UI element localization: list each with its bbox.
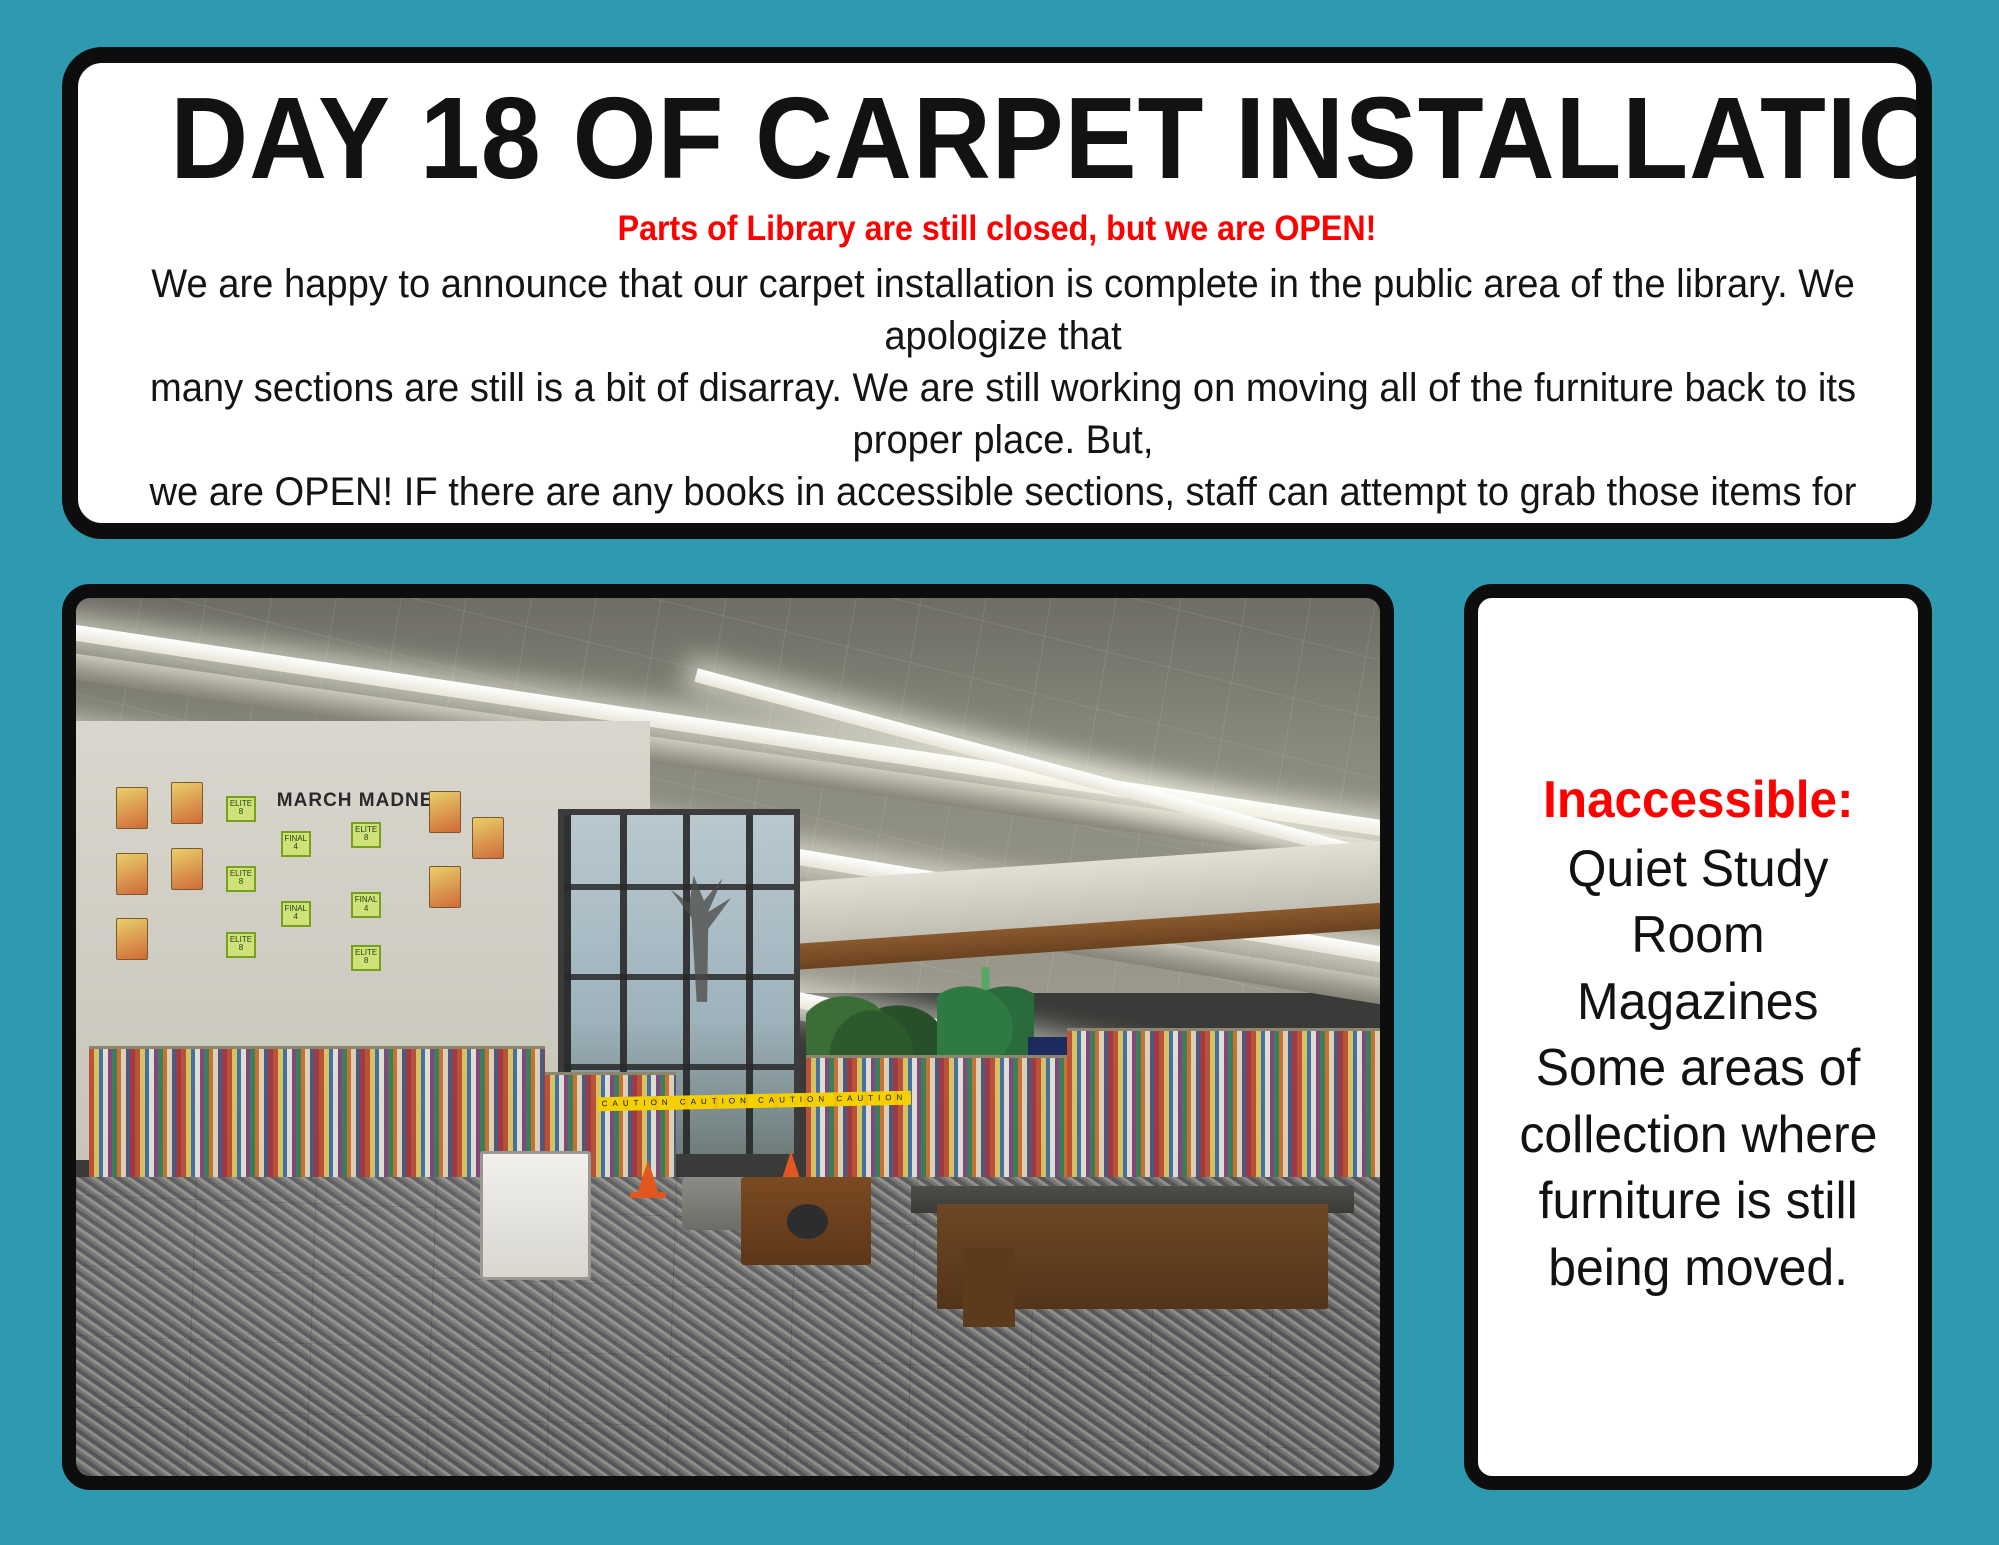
book-poster: [171, 782, 203, 824]
page-title: DAY 18 OF CARPET INSTALLATION: [170, 79, 1824, 197]
announcement-card: DAY 18 OF CARPET INSTALLATION Parts of L…: [62, 47, 1932, 539]
book-poster: [429, 791, 461, 833]
turtle-bench: [741, 1177, 871, 1265]
announcement-body-line: We are happy to announce that our carpet…: [139, 258, 1866, 362]
book-poster: [472, 817, 504, 859]
bracket-card: ELITE 8: [226, 866, 256, 892]
bracket-card: FINAL 4: [281, 831, 311, 857]
traffic-cone: [637, 1160, 659, 1194]
announcement-body-line: we are OPEN! IF there are any books in a…: [139, 466, 1866, 539]
inaccessible-item: Quiet Study Room: [1508, 836, 1888, 969]
inaccessible-list-card: Inaccessible: Quiet Study Room Magazines…: [1464, 584, 1932, 1490]
library-photo-card: MARCH MADNESS ELITE 8 ELITE 8 FINAL 4 FI…: [62, 584, 1394, 1490]
bracket-card: ELITE 8: [351, 945, 381, 971]
inaccessible-item: Some areas of: [1536, 1035, 1861, 1102]
bracket-card: ELITE 8: [226, 932, 256, 958]
march-madness-display-board: MARCH MADNESS ELITE 8 ELITE 8 FINAL 4 FI…: [109, 774, 500, 994]
book-poster: [116, 918, 148, 960]
bracket-card: FINAL 4: [281, 901, 311, 927]
inaccessible-item: collection where: [1519, 1102, 1877, 1169]
inaccessible-item: furniture is still: [1538, 1168, 1857, 1235]
announcement-body: We are happy to announce that our carpet…: [139, 258, 1866, 539]
book-poster: [116, 787, 148, 829]
inaccessible-item: Magazines: [1577, 969, 1818, 1036]
library-interior-photo: MARCH MADNESS ELITE 8 ELITE 8 FINAL 4 FI…: [76, 598, 1380, 1476]
poster-canvas: DAY 18 OF CARPET INSTALLATION Parts of L…: [0, 0, 1999, 1545]
bracket-card: ELITE 8: [226, 796, 256, 822]
inaccessible-item: being moved.: [1548, 1235, 1848, 1302]
inaccessible-heading: Inaccessible:: [1543, 772, 1853, 829]
book-cart: [480, 1151, 590, 1280]
announcement-subheadline: Parts of Library are still closed, but w…: [179, 209, 1815, 249]
book-poster: [429, 866, 461, 908]
chair: [963, 1248, 1015, 1327]
book-poster: [171, 848, 203, 890]
bracket-card: ELITE 8: [351, 822, 381, 848]
book-poster: [116, 853, 148, 895]
bracket-card: FINAL 4: [351, 892, 381, 918]
announcement-body-line: many sections are still is a bit of disa…: [139, 362, 1866, 466]
